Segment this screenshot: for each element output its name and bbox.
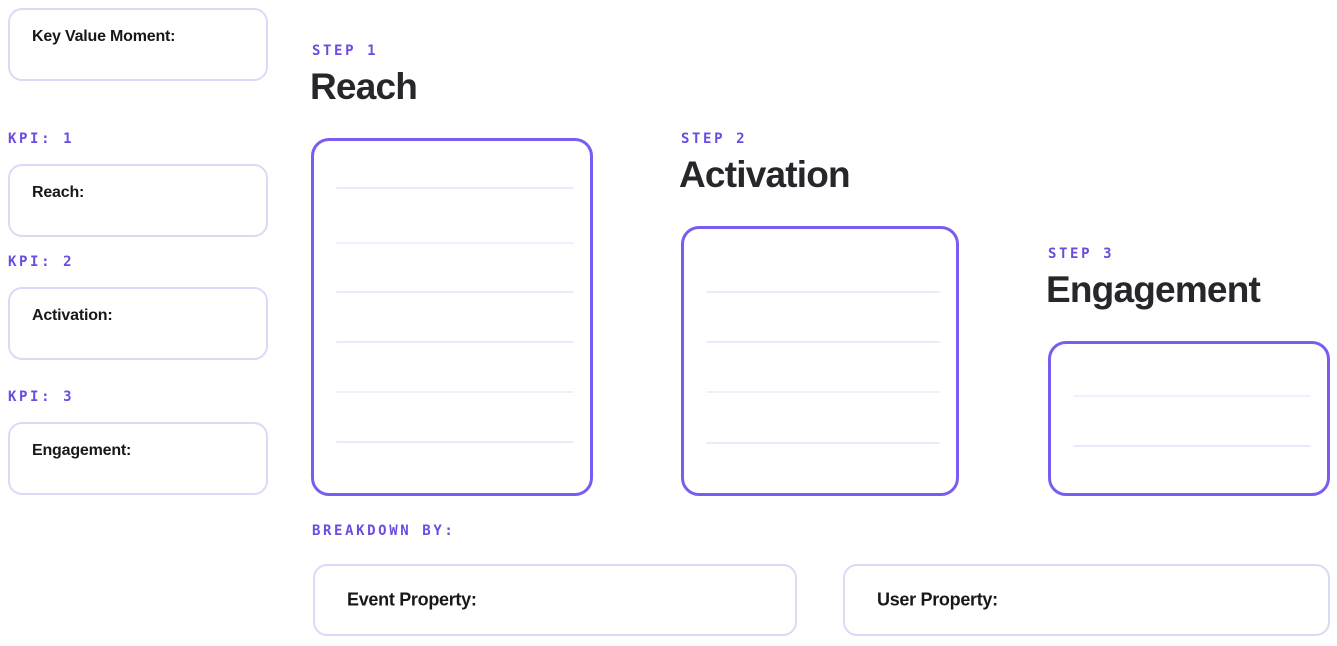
- step-3-card[interactable]: [1048, 341, 1330, 496]
- step-1-rule-3: [336, 291, 574, 293]
- kpi-2-label: Activation:: [32, 307, 112, 325]
- key-value-moment-card[interactable]: Key Value Moment:: [8, 8, 268, 81]
- kpi-2-card[interactable]: Activation:: [8, 287, 268, 360]
- step-2-title: Activation: [679, 156, 850, 195]
- step-2-rule-3: [706, 391, 940, 393]
- step-3-rule-1: [1073, 395, 1311, 397]
- step-2-rule-4: [706, 442, 940, 444]
- step-1-rule-2: [336, 242, 574, 244]
- step-2-eyebrow: STEP 2: [681, 132, 747, 146]
- step-3-rule-2: [1073, 445, 1311, 447]
- step-2-rule-1: [706, 291, 940, 293]
- breakdown-by-eyebrow: BREAKDOWN BY:: [312, 524, 455, 538]
- kpi-3-label: Engagement:: [32, 442, 131, 460]
- event-property-label: Event Property:: [347, 590, 477, 611]
- event-property-card[interactable]: Event Property:: [313, 564, 797, 636]
- step-1-card[interactable]: [311, 138, 593, 496]
- step-3-eyebrow: STEP 3: [1048, 247, 1114, 261]
- step-1-rule-5: [336, 391, 574, 393]
- step-1-rule-6: [336, 441, 574, 443]
- step-3-title: Engagement: [1046, 271, 1260, 310]
- step-1-rule-4: [336, 341, 574, 343]
- kpi-1-label: Reach:: [32, 184, 84, 202]
- kpi-3-eyebrow: KPI: 3: [8, 390, 74, 404]
- kpi-3-card[interactable]: Engagement:: [8, 422, 268, 495]
- step-2-rule-2: [706, 341, 940, 343]
- kpi-2-eyebrow: KPI: 2: [8, 255, 74, 269]
- step-2-card[interactable]: [681, 226, 959, 496]
- step-1-rule-1: [336, 187, 574, 189]
- kpi-1-card[interactable]: Reach:: [8, 164, 268, 237]
- kpi-1-eyebrow: KPI: 1: [8, 132, 74, 146]
- user-property-card[interactable]: User Property:: [843, 564, 1330, 636]
- user-property-label: User Property:: [877, 590, 998, 611]
- step-1-title: Reach: [310, 68, 417, 107]
- step-1-eyebrow: STEP 1: [312, 44, 378, 58]
- key-value-moment-label: Key Value Moment:: [32, 28, 175, 46]
